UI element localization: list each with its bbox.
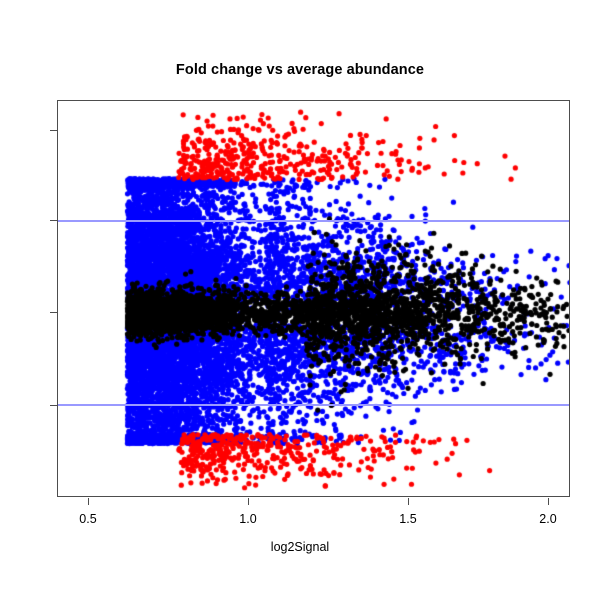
x-tick-label-2: 1.5 — [399, 512, 416, 526]
x-tick-label-1: 1.0 — [239, 512, 256, 526]
plot-screen: Fold change vs average abundance 0.5 1.0… — [0, 0, 600, 600]
y-tick-mark-3 — [50, 405, 57, 406]
x-tick-mark-0 — [88, 498, 89, 505]
y-tick-mark-0 — [50, 130, 57, 131]
plot-area — [57, 100, 570, 497]
x-tick-mark-3 — [548, 498, 549, 505]
y-tick-mark-2 — [50, 312, 57, 313]
x-tick-label-3: 2.0 — [539, 512, 556, 526]
x-tick-mark-1 — [248, 498, 249, 505]
threshold-line-lower — [58, 404, 570, 406]
page-title: Fold change vs average abundance — [0, 62, 600, 78]
y-tick-mark-1 — [50, 220, 57, 221]
x-axis-label: log2Signal — [0, 540, 600, 554]
threshold-line-upper — [58, 220, 570, 222]
x-tick-mark-2 — [408, 498, 409, 505]
x-tick-label-0: 0.5 — [79, 512, 96, 526]
scatter-points-canvas — [58, 101, 570, 497]
